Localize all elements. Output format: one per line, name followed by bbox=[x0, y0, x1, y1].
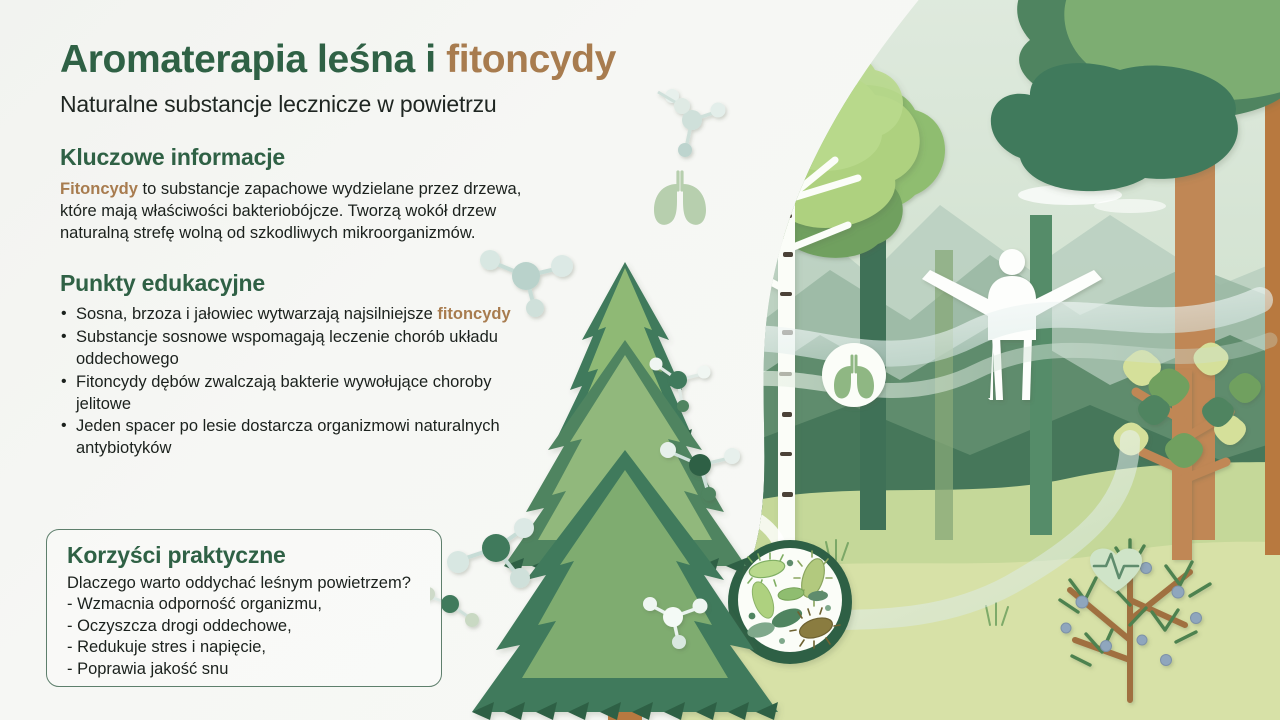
list-item: Substancje sosnowe wspomagają leczenie c… bbox=[60, 327, 530, 371]
key-info-body: Fitoncydy to substancje zapachowe wydzie… bbox=[60, 178, 530, 245]
title-accent: fitoncydy bbox=[446, 38, 616, 81]
list-item-text: Sosna, brzoza i jałowiec wytwarzają najs… bbox=[76, 305, 437, 323]
benefits-heading: Korzyści praktyczne bbox=[67, 542, 421, 569]
education-list: Sosna, brzoza i jałowiec wytwarzają najs… bbox=[60, 304, 530, 459]
title-main: Aromaterapia leśna i bbox=[60, 38, 446, 81]
infographic-poster: Aromaterapia leśna i fitoncydy Naturalne… bbox=[0, 0, 1280, 720]
list-item-accent: fitoncydy bbox=[437, 305, 510, 323]
lungs-icon-floating bbox=[654, 172, 706, 225]
forest-illustration bbox=[430, 0, 1280, 720]
list-item: Fitoncydy dębów zwalczają bakterie wywoł… bbox=[60, 372, 530, 416]
list-item-text: Substancje sosnowe wspomagają leczenie c… bbox=[76, 328, 498, 368]
education-heading: Punkty edukacyjne bbox=[60, 270, 530, 297]
benefits-line: - Poprawia jakość snu bbox=[67, 659, 421, 680]
benefits-line: - Wzmacnia odporność organizmu, bbox=[67, 594, 421, 615]
benefits-line: - Redukuje stres i napięcie, bbox=[67, 637, 421, 658]
benefits-box: Korzyści praktyczne Dlaczego warto oddyc… bbox=[46, 529, 442, 687]
benefits-question: Dlaczego warto oddychać leśnym powietrze… bbox=[67, 573, 421, 594]
key-info-heading: Kluczowe informacje bbox=[60, 144, 530, 171]
page-title: Aromaterapia leśna i fitoncydy bbox=[60, 38, 530, 82]
list-item: Jeden spacer po lesie dostarcza organizm… bbox=[60, 416, 530, 460]
lungs-badge bbox=[822, 343, 886, 407]
benefits-line: - Oczyszcza drogi oddechowe, bbox=[67, 616, 421, 637]
list-item-text: Fitoncydy dębów zwalczają bakterie wywoł… bbox=[76, 373, 491, 413]
list-item: Sosna, brzoza i jałowiec wytwarzają najs… bbox=[60, 304, 530, 326]
key-info-accent: Fitoncydy bbox=[60, 180, 138, 198]
text-column: Aromaterapia leśna i fitoncydy Naturalne… bbox=[60, 38, 530, 461]
page-subtitle: Naturalne substancje lecznicze w powietr… bbox=[60, 91, 530, 118]
list-item-text: Jeden spacer po lesie dostarcza organizm… bbox=[76, 417, 500, 457]
